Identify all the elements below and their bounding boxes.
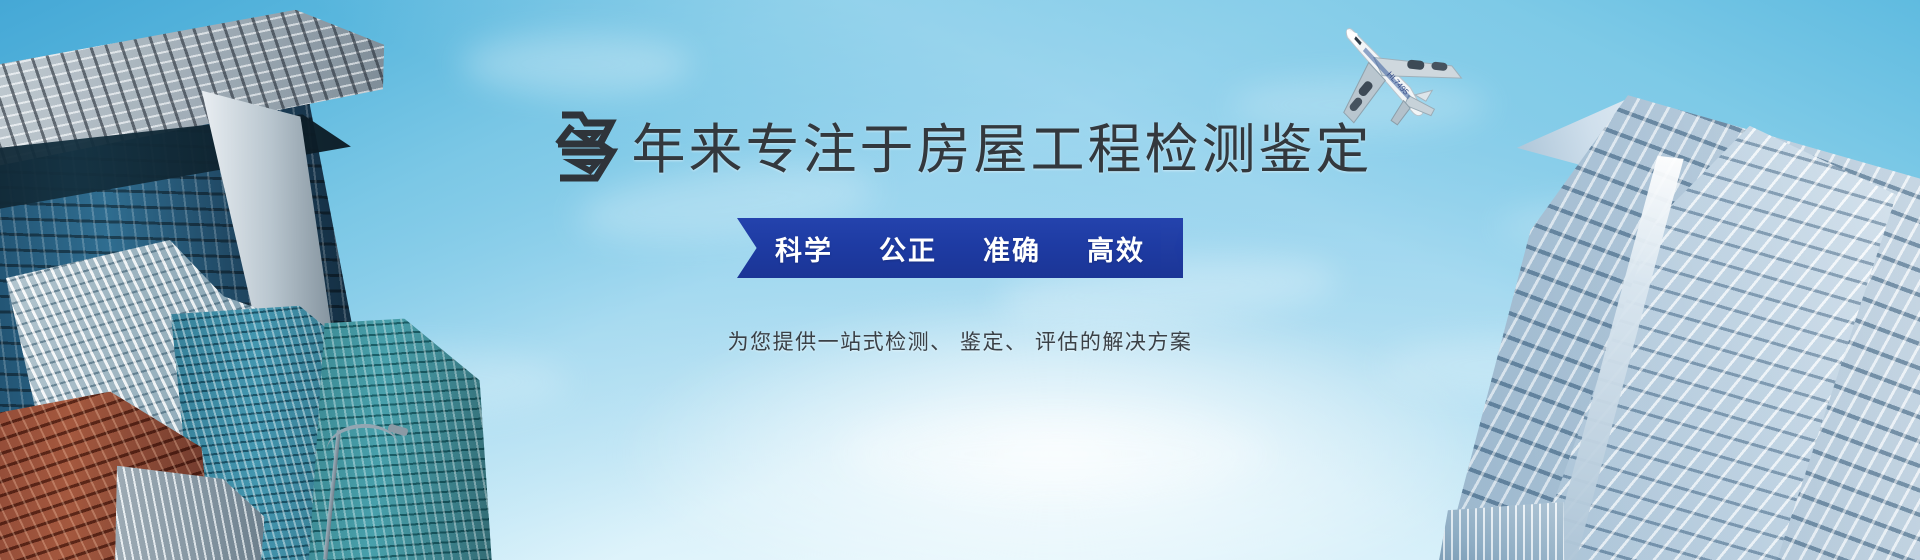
banner-content: 年来专注于房屋工程检测鉴定 科学 公正 准确 高效 为您提供一站式检测、 鉴定、… (0, 0, 1920, 560)
ribbon-word-3: 准确 (983, 229, 1041, 268)
ribbon-word-4: 高效 (1087, 229, 1145, 268)
headline: 年来专注于房屋工程检测鉴定 (548, 104, 1373, 182)
slogan-ribbon: 科学 公正 准确 高效 (737, 218, 1183, 278)
ribbon-word-2: 公正 (879, 229, 937, 268)
headline-text: 年来专注于房屋工程检测鉴定 (632, 120, 1373, 180)
hero-banner: HL7495 年来专注于房屋工程检测鉴定 科学 公正 (0, 0, 1920, 560)
banner-subtitle: 为您提供一站式检测、 鉴定、 评估的解决方案 (728, 326, 1193, 356)
ribbon-word-1: 科学 (775, 229, 833, 268)
ribbon-words: 科学 公正 准确 高效 (737, 218, 1183, 278)
duo-character-mark (548, 104, 630, 182)
